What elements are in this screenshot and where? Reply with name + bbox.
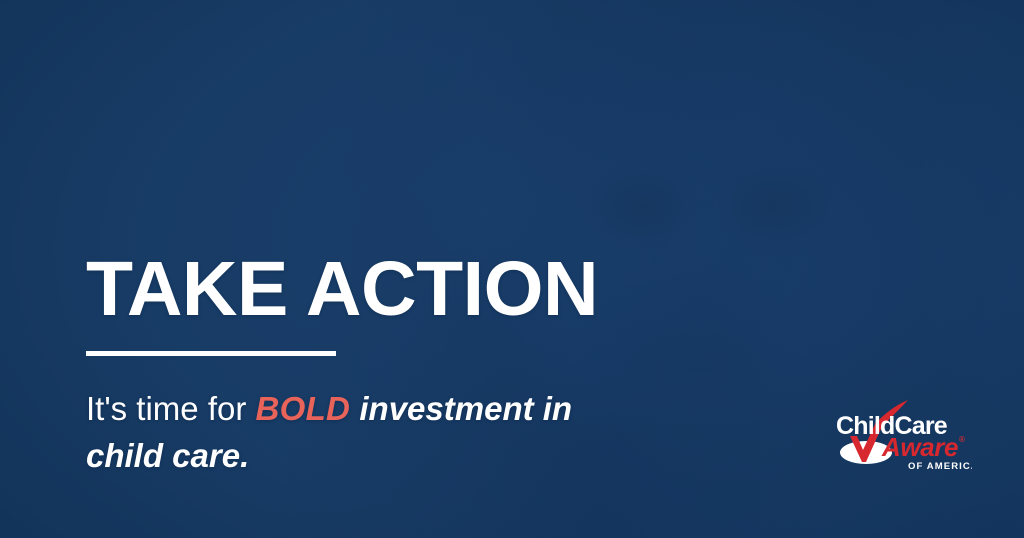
- subheadline-lead: It's time for: [86, 390, 256, 427]
- page-title: TAKE ACTION: [86, 253, 598, 326]
- logo-artwork: ChildCare Aware ® OF AMERICA: [832, 398, 972, 472]
- child-care-aware-logo: ChildCare Aware ® OF AMERICA: [832, 398, 972, 472]
- subheadline: It's time for BOLD investment in child c…: [86, 386, 646, 480]
- social-graphic-canvas: TAKE ACTION It's time for BOLD investmen…: [0, 0, 1024, 538]
- text-content-block: TAKE ACTION It's time for BOLD investmen…: [86, 0, 706, 538]
- logo-registered-mark-icon: ®: [959, 435, 965, 444]
- title-divider-rule: [86, 351, 336, 356]
- subheadline-emphasis: BOLD: [256, 390, 351, 427]
- logo-tagline: OF AMERICA: [908, 461, 972, 472]
- logo-aware-wordmark: Aware: [881, 432, 958, 462]
